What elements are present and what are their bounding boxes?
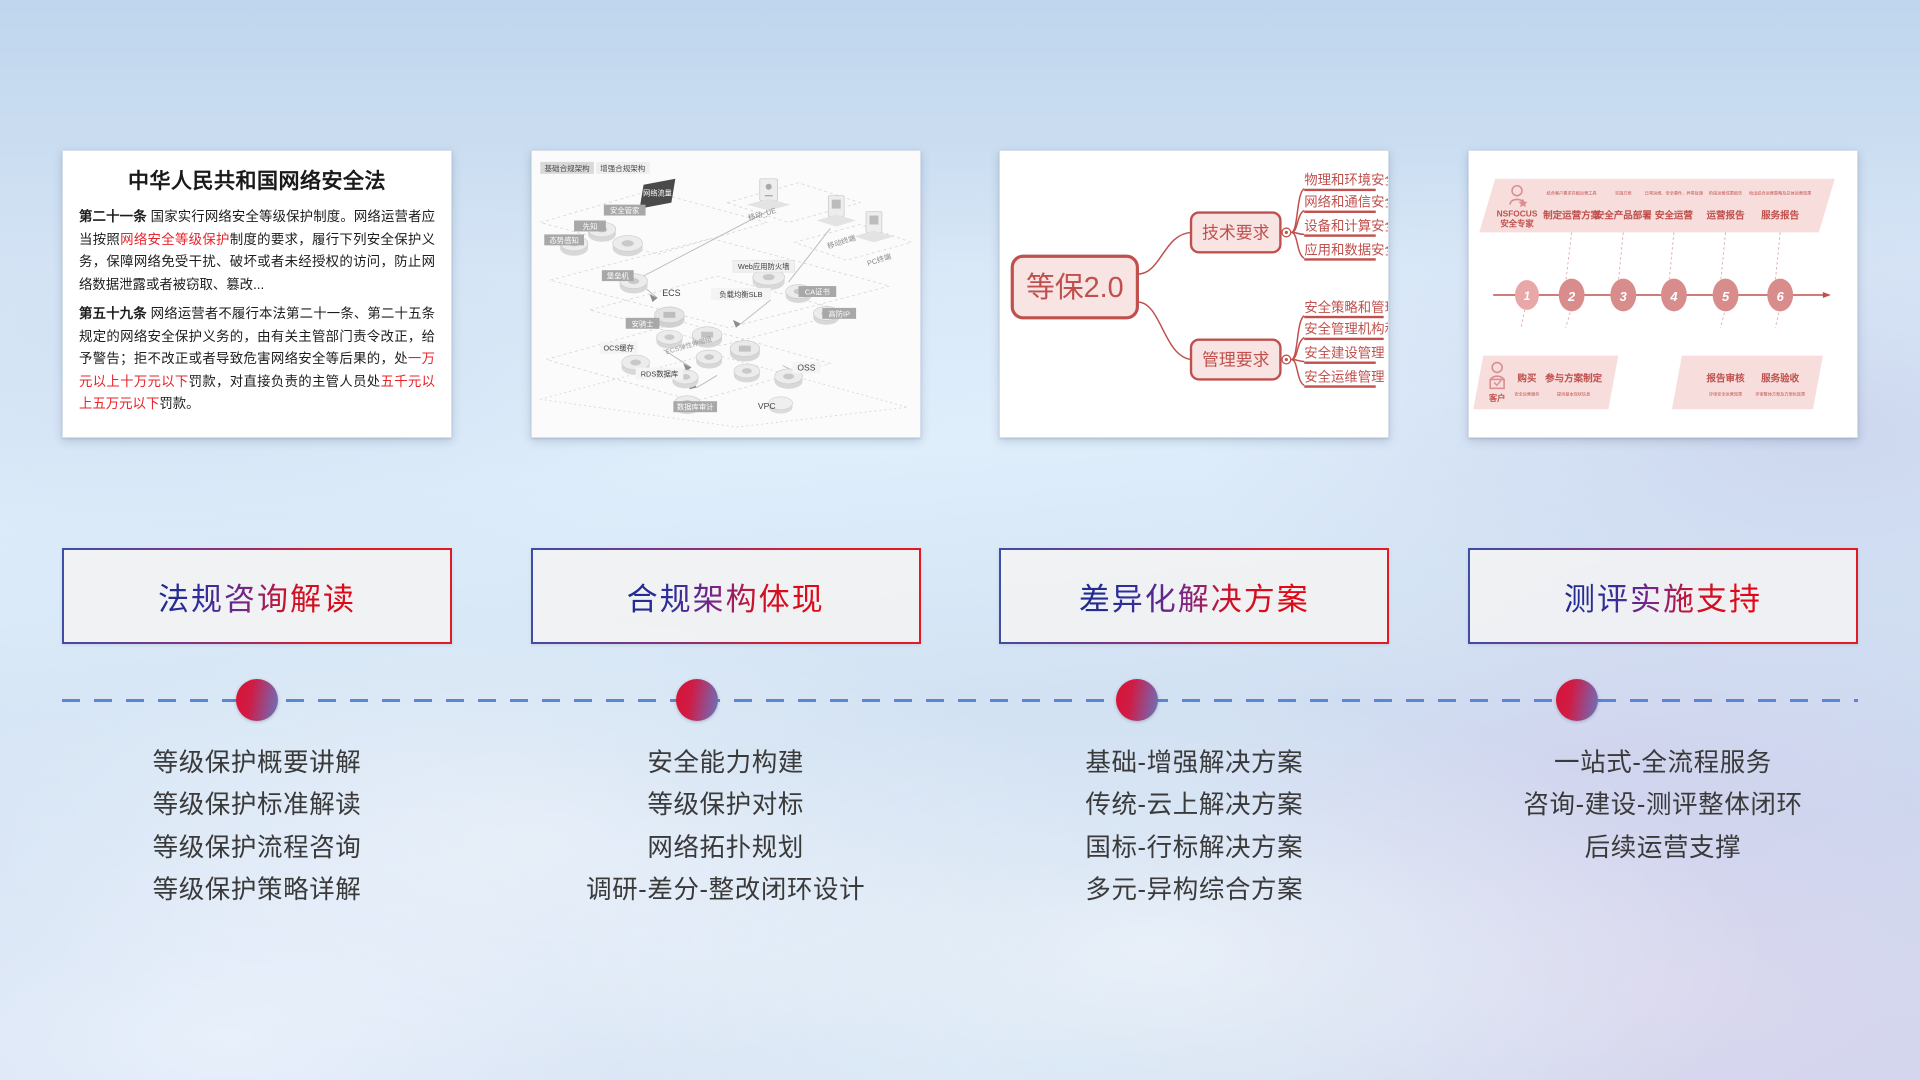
arch-node-label: 安骑士: [631, 319, 653, 328]
mindmap-leaf: 网络和通信安全: [1305, 194, 1389, 210]
svg-text:3: 3: [1620, 289, 1628, 304]
arch-node-label: OCS缓存: [603, 344, 634, 353]
mindmap-leaf: 安全运维管理: [1305, 368, 1385, 384]
svg-text:5: 5: [1722, 289, 1730, 304]
list-item: 网络拓扑规划: [531, 827, 921, 869]
list-item: 等级保护标准解读: [62, 784, 452, 826]
list-item: 等级保护流程咨询: [62, 827, 452, 869]
law-run: 罚款。: [159, 396, 199, 411]
timeline-top-title: 安全运营: [1655, 210, 1694, 222]
timeline-top-caption: 结合客户需求匹配运营工具: [1547, 190, 1597, 196]
svg-text:6: 6: [1777, 289, 1785, 304]
timeline-top-title: 制定运营方案: [1543, 210, 1601, 222]
arch-tab-1: 增强合规架构: [600, 163, 646, 173]
timeline-top-caption: 给出综合运营策略及总体运营效果: [1749, 190, 1811, 196]
list-item: 咨询-建设-测评整体闭环: [1468, 784, 1858, 826]
timeline-dot-3[interactable]: [1116, 679, 1158, 721]
category-banner-row: 法规咨询解读 合规架构体现 差异化解决方案 测评实施支持: [62, 548, 1858, 646]
law-article-label-21: 第二十一条: [79, 209, 147, 224]
arch-node-label: CA证书: [805, 287, 830, 296]
mindmap-diagram: 等保2.0 技术要求 物理和环境安全: [1000, 151, 1388, 437]
detail-lists-row: 等级保护概要讲解 等级保护标准解读 等级保护流程咨询 等级保护策略详解 安全能力…: [62, 742, 1858, 982]
illustration-cards-row: 中华人民共和国网络安全法 第二十一条 国家实行网络安全等级保护制度。网络运营者应…: [62, 150, 1858, 440]
timeline-bottom-caption: 安全运营服务: [1514, 390, 1539, 396]
service-timeline-diagram: NSFOCUS 安全专家 结合客户需求匹配运营工具 制定运营方案 实施方案 安全…: [1469, 151, 1857, 437]
timeline-dot-2[interactable]: [676, 679, 718, 721]
law-run-highlight: 网络安全等级保护: [120, 232, 230, 247]
timeline-top-caption: 日常运维、安全事件、异常处理: [1645, 190, 1703, 196]
list-item: 基础-增强解决方案: [999, 742, 1389, 784]
list-column-compliance-architecture: 安全能力构建 等级保护对标 网络拓扑规划 调研-差分-整改闭环设计: [531, 742, 921, 982]
law-run: 罚款，对直接负责的主管人员处: [189, 374, 381, 389]
timeline-top-caption: 实施方案: [1615, 190, 1632, 196]
timeline-bottom-caption: 评审安全运营效果: [1709, 390, 1742, 396]
svg-text:网络流量: 网络流量: [643, 189, 672, 198]
list-item: 等级保护对标: [531, 784, 921, 826]
customer-label: 客户: [1488, 393, 1506, 403]
timeline-top-title: 安全产品部署: [1595, 210, 1653, 222]
law-paragraph-59: 第五十九条 网络运营者不履行本法第二十一条、第二十五条规定的网络安全保护义务的，…: [79, 303, 435, 416]
timeline-bottom-band-right: [1672, 356, 1823, 410]
mindmap-leaf: 安全策略和管理制度: [1305, 299, 1389, 315]
timeline-bottom-caption: 评审整体方案及方案化效果: [1755, 390, 1805, 396]
progress-timeline: [62, 672, 1858, 728]
mindmap-leaf: 安全管理机构和人员: [1305, 321, 1389, 337]
card-nsfocus-service-timeline[interactable]: NSFOCUS 安全专家 结合客户需求匹配运营工具 制定运营方案 实施方案 安全…: [1468, 150, 1858, 438]
arch-node-label: 堡垒机: [606, 272, 629, 281]
list-column-differentiated-solution: 基础-增强解决方案 传统-云上解决方案 国标-行标解决方案 多元-异构综合方案: [999, 742, 1389, 982]
law-paragraph-21: 第二十一条 国家实行网络安全等级保护制度。网络运营者应当按照网络安全等级保护制度…: [79, 206, 435, 296]
banner-regulation-consulting[interactable]: 法规咨询解读: [62, 548, 452, 644]
card-mindmap-dengbao[interactable]: 等保2.0 技术要求 物理和环境安全: [999, 150, 1389, 438]
card-cybersecurity-law[interactable]: 中华人民共和国网络安全法 第二十一条 国家实行网络安全等级保护制度。网络运营者应…: [62, 150, 452, 438]
timeline-dot-1[interactable]: [236, 679, 278, 721]
arch-node-label: Web应用防火墙: [738, 262, 790, 271]
mindmap-leaf: 设备和计算安全: [1305, 217, 1389, 233]
arch-node-label: 负载均衡SLB: [719, 290, 762, 299]
list-column-assessment-support: 一站式-全流程服务 咨询-建设-测评整体闭环 后续运营支撑: [1468, 742, 1858, 982]
svg-text:技术要求: 技术要求: [1202, 223, 1270, 242]
list-item: 调研-差分-整改闭环设计: [531, 869, 921, 911]
svg-text:等保2.0: 等保2.0: [1026, 272, 1124, 304]
list-item: 等级保护概要讲解: [62, 742, 452, 784]
arch-node-label: 态势感知: [549, 236, 578, 245]
timeline-top-title: 服务报告: [1761, 210, 1800, 222]
list-item: 后续运营支撑: [1468, 827, 1858, 869]
timeline-bottom-title: 参与方案制定: [1544, 372, 1603, 384]
list-item: 国标-行标解决方案: [999, 827, 1389, 869]
list-item: 等级保护策略详解: [62, 869, 452, 911]
timeline-bottom-title: 报告审核: [1707, 372, 1746, 384]
list-item: 多元-异构综合方案: [999, 869, 1389, 911]
law-title: 中华人民共和国网络安全法: [79, 165, 435, 195]
arch-node-label: VPC: [758, 401, 776, 411]
timeline-top-title: 运营报告: [1707, 210, 1746, 222]
nsfocus-sublabel: 安全专家: [1500, 218, 1534, 228]
banner-assessment-support[interactable]: 测评实施支持: [1468, 548, 1858, 644]
list-item: 一站式-全流程服务: [1468, 742, 1858, 784]
arch-node-label: 先知: [582, 222, 597, 231]
list-item: 安全能力构建: [531, 742, 921, 784]
banner-label: 合规架构体现: [627, 574, 825, 619]
card-compliance-architecture[interactable]: 基础合规架构 增强合规架构 网络流量 安全管家 先知 态势感知 堡垒机 移动_U…: [531, 150, 921, 438]
timeline-dot-4[interactable]: [1556, 679, 1598, 721]
banner-label: 测评实施支持: [1564, 574, 1762, 619]
architecture-diagram: 基础合规架构 增强合规架构 网络流量 安全管家 先知 态势感知 堡垒机 移动_U…: [532, 151, 920, 437]
arch-tab-0: 基础合规架构: [544, 163, 590, 173]
banner-compliance-architecture[interactable]: 合规架构体现: [531, 548, 921, 644]
arch-node-label: 数据库审计: [677, 403, 714, 412]
svg-text:管理要求: 管理要求: [1202, 351, 1270, 370]
arch-node-label: OSS: [797, 362, 815, 372]
mindmap-leaf: 物理和环境安全: [1305, 172, 1389, 188]
arch-node-label: ECS: [662, 288, 680, 298]
law-article-label-59: 第五十九条: [79, 306, 147, 321]
mindmap-root-node: 等保2.0: [1013, 256, 1138, 318]
list-item: 传统-云上解决方案: [999, 784, 1389, 826]
timeline-top-caption: 阶段运营成果报告: [1709, 190, 1742, 196]
svg-text:4: 4: [1669, 289, 1677, 304]
banner-differentiated-solution[interactable]: 差异化解决方案: [999, 548, 1389, 644]
timeline-bottom-caption: 提供基本现状信息: [1557, 390, 1590, 396]
arch-node-label: 高防IP: [828, 309, 850, 318]
banner-label: 差异化解决方案: [1079, 574, 1310, 619]
timeline-bottom-title: 服务验收: [1761, 372, 1800, 384]
list-column-regulation-consulting: 等级保护概要讲解 等级保护标准解读 等级保护流程咨询 等级保护策略详解: [62, 742, 452, 982]
arch-node-label: 安全管家: [610, 206, 640, 215]
svg-text:2: 2: [1567, 289, 1576, 304]
svg-text:1: 1: [1524, 289, 1531, 303]
mindmap-leaf: 应用和数据安全: [1305, 241, 1389, 257]
banner-label: 法规咨询解读: [158, 574, 356, 619]
timeline-bottom-title: 购买: [1517, 372, 1537, 384]
nsfocus-label: NSFOCUS: [1497, 209, 1538, 219]
arch-node-label: RDS数据库: [640, 369, 677, 378]
mindmap-leaf: 安全建设管理: [1305, 345, 1385, 361]
